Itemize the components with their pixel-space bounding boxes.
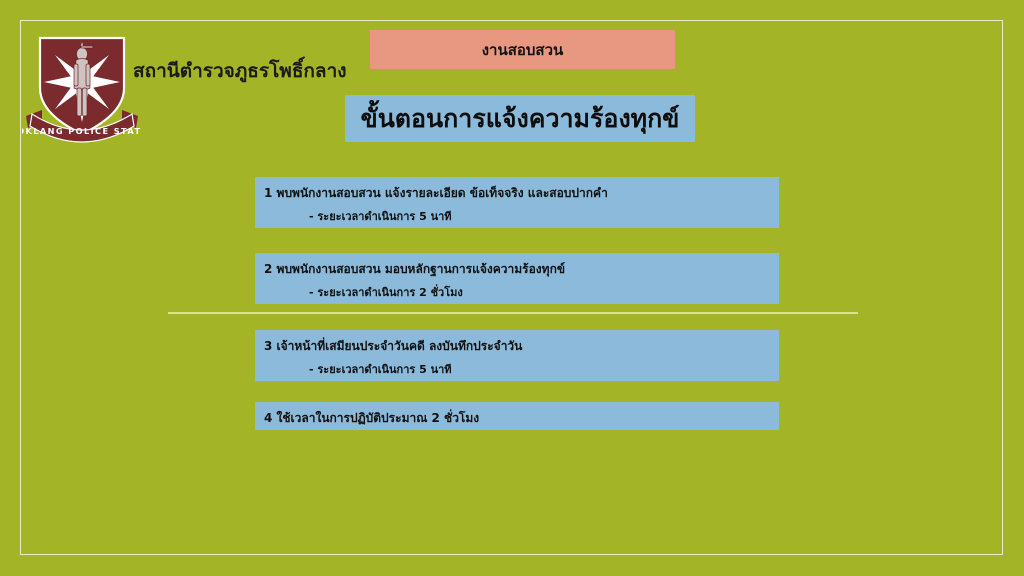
slide-canvas: PHOKLANG POLICE STATION สถานีตำรวจภูธรโพ… [0, 0, 1024, 576]
step-box-3: 3 เจ้าหน้าที่เสมียนประจำวันคดี ลงบันทึกป… [255, 330, 779, 381]
header-banner: งานสอบสวน [370, 30, 675, 69]
step-box-4: 4 ใช้เวลาในการปฏิบัติประมาณ 2 ชั่วโมง [255, 402, 779, 430]
police-shield-logo: PHOKLANG POLICE STATION [22, 22, 142, 144]
step-4-main-text: 4 ใช้เวลาในการปฏิบัติประมาณ 2 ชั่วโมง [264, 410, 779, 427]
step-1-main-text: 1 พบพนักงานสอบสวน แจ้งรายละเอียด ข้อเท็จ… [264, 185, 779, 202]
step-3-duration-text: - ระยะเวลาดำเนินการ 5 นาที [264, 361, 779, 378]
page-title-box: ขั้นตอนการแจ้งความร้องทุกข์ [345, 95, 695, 142]
step-box-2: 2 พบพนักงานสอบสวน มอบหลักฐานการแจ้งความร… [255, 253, 779, 304]
station-name-label: สถานีตำรวจภูธรโพธิ์กลาง [133, 56, 347, 86]
step-3-main-text: 3 เจ้าหน้าที่เสมียนประจำวันคดี ลงบันทึกป… [264, 338, 779, 355]
section-divider-line [168, 312, 858, 314]
step-2-main-text: 2 พบพนักงานสอบสวน มอบหลักฐานการแจ้งความร… [264, 261, 779, 278]
header-banner-label: งานสอบสวน [482, 38, 564, 62]
step-2-duration-text: - ระยะเวลาดำเนินการ 2 ชั่วโมง [264, 284, 779, 301]
logo-banner-text: PHOKLANG POLICE STATION [22, 126, 142, 136]
step-box-1: 1 พบพนักงานสอบสวน แจ้งรายละเอียด ข้อเท็จ… [255, 177, 779, 228]
step-1-duration-text: - ระยะเวลาดำเนินการ 5 นาที [264, 208, 779, 225]
page-title: ขั้นตอนการแจ้งความร้องทุกข์ [361, 99, 680, 139]
